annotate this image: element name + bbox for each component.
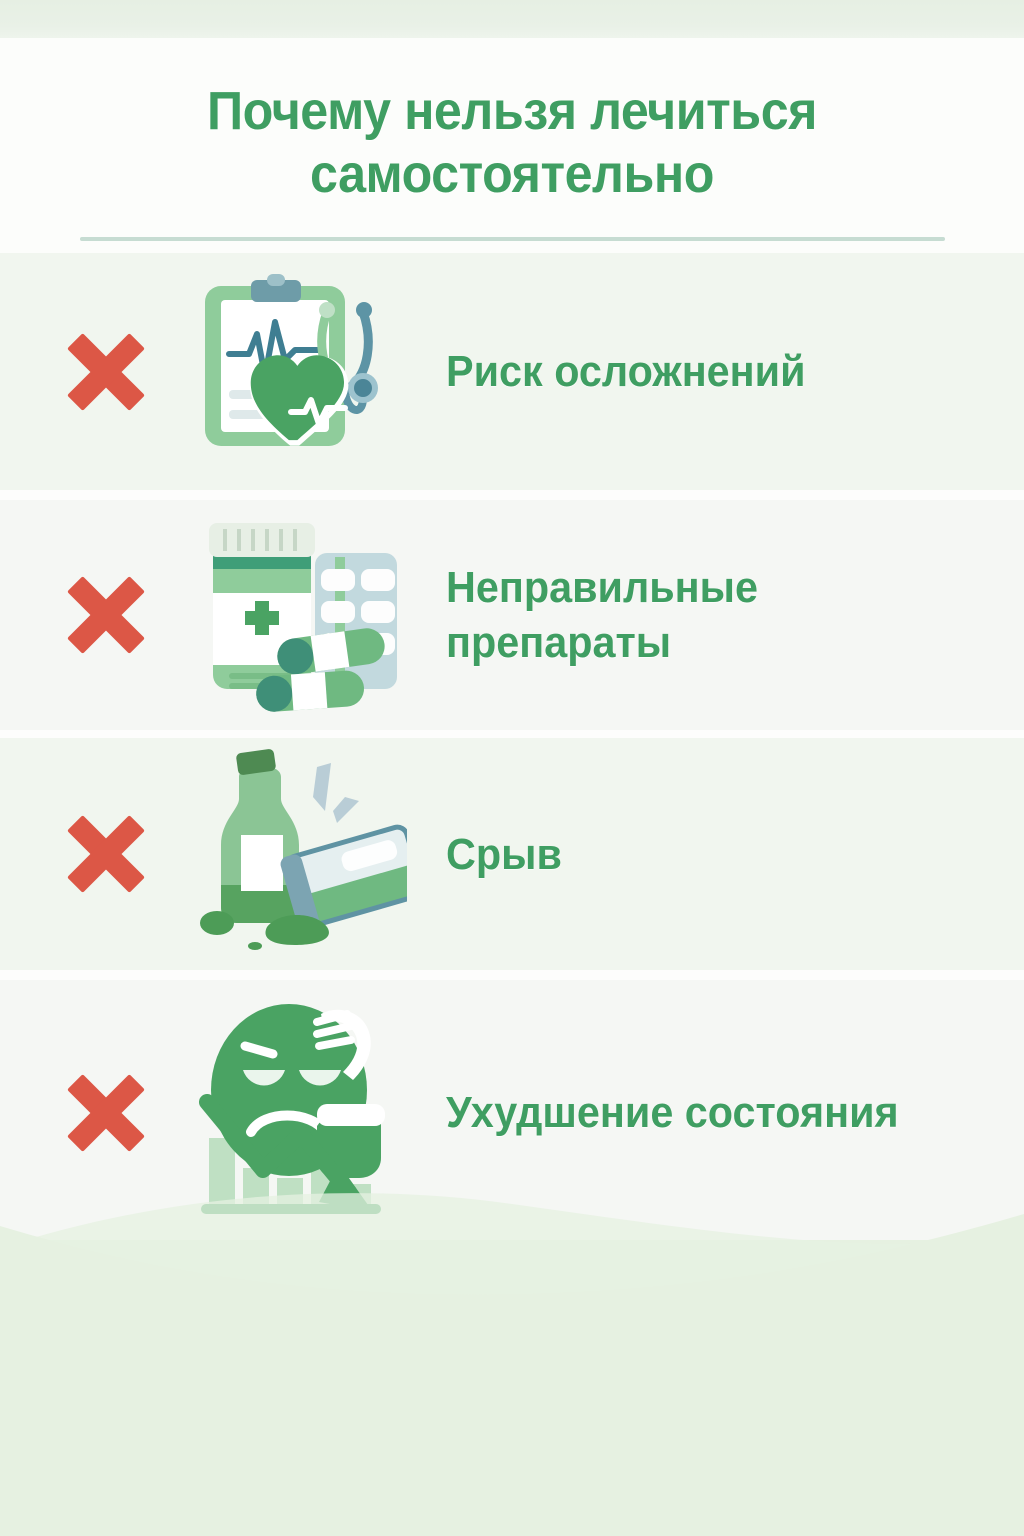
list-item[interactable]: Риск осложнений bbox=[0, 253, 1024, 490]
cross-icon bbox=[58, 567, 154, 663]
row-separator bbox=[0, 970, 1024, 980]
top-accent-strip bbox=[0, 0, 1024, 38]
bottle-spilled-glass-icon bbox=[162, 738, 412, 970]
reasons-list: Риск осложнений bbox=[0, 253, 1024, 1245]
list-item-label: Неправильные препараты bbox=[446, 560, 989, 670]
list-item-label-line-2: препараты bbox=[446, 618, 671, 667]
list-item-label: Срыв bbox=[446, 827, 989, 882]
list-item-label: Риск осложнений bbox=[446, 344, 989, 399]
row-separator bbox=[0, 730, 1024, 738]
list-item[interactable]: Неправильные препараты bbox=[0, 500, 1024, 730]
pill-bottle-blister-capsules-icon bbox=[162, 500, 412, 730]
list-item[interactable]: Срыв bbox=[0, 738, 1024, 970]
row-separator bbox=[0, 490, 1024, 500]
list-item-label: Ухудшение состояния bbox=[446, 1085, 989, 1140]
sad-face-declining-chart-icon bbox=[162, 980, 412, 1245]
list-item[interactable]: Ухудшение состояния bbox=[0, 980, 1024, 1245]
title-divider bbox=[80, 237, 945, 241]
title-line-1: Почему нельзя лечиться bbox=[36, 80, 988, 143]
page-title: Почему нельзя лечиться самостоятельно bbox=[36, 38, 988, 206]
cross-icon bbox=[58, 806, 154, 902]
clipboard-heart-stethoscope-icon bbox=[162, 253, 412, 490]
cross-icon bbox=[58, 324, 154, 420]
bottom-panel bbox=[0, 1240, 1024, 1536]
cross-icon bbox=[58, 1065, 154, 1161]
list-item-label-line-1: Неправильные bbox=[446, 563, 758, 612]
poster-header: Почему нельзя лечиться самостоятельно bbox=[0, 38, 1024, 253]
infographic-poster: Почему нельзя лечиться самостоятельно bbox=[0, 0, 1024, 1536]
title-line-2: самостоятельно bbox=[36, 143, 988, 206]
